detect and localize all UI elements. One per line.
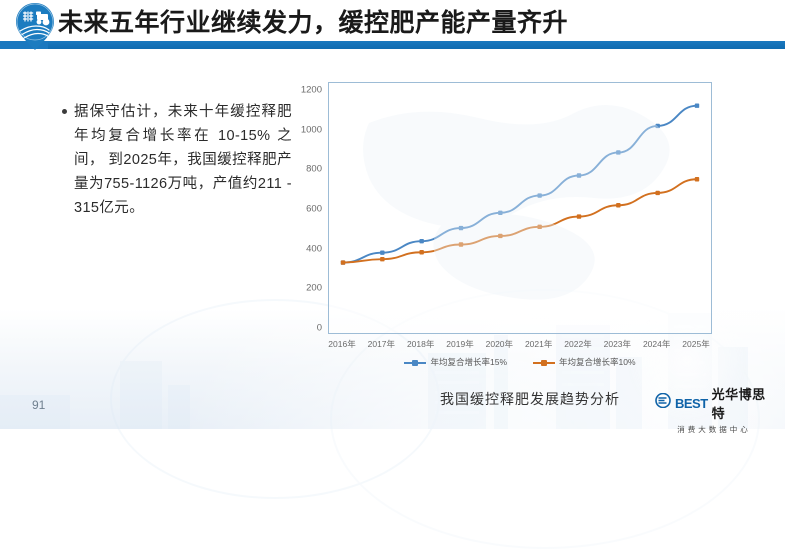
brand-subtitle: 消费大数据中心	[655, 424, 773, 435]
trend-chart: 020040060080010001200 2016年2017年2018年201…	[300, 70, 720, 380]
slide-header: 未来五年行业继续发力，缓控肥产能产量齐升	[0, 0, 785, 52]
x-axis-tick: 2019年	[446, 338, 473, 350]
list-item: 据保守估计，未来十年缓控释肥年均复合增长率在 10-15% 之间， 到2025年…	[62, 100, 292, 220]
plot-area	[328, 82, 712, 334]
chart-caption: 我国缓控释肥发展趋势分析	[390, 389, 670, 409]
x-axis-tick: 2016年	[328, 338, 355, 350]
brand-mark-icon	[655, 393, 671, 413]
y-axis-tick: 800	[306, 164, 322, 175]
brand-main-row: BEST 光华博思特	[655, 384, 773, 422]
y-axis-tick: 0	[317, 323, 322, 334]
map-watermark	[329, 83, 711, 333]
legend-swatch-icon	[533, 358, 555, 367]
x-axis-tick: 2023年	[604, 338, 631, 350]
bullet-dot-icon	[62, 109, 67, 114]
brand-logo: BEST 光华博思特 消费大数据中心	[655, 384, 773, 418]
bullet-block: 据保守估计，未来十年缓控释肥年均复合增长率在 10-15% 之间， 到2025年…	[62, 100, 292, 220]
brand-name: 光华博思特	[712, 384, 773, 422]
y-axis-tick: 200	[306, 283, 322, 294]
legend-swatch-icon	[404, 358, 426, 367]
y-axis-tick: 400	[306, 243, 322, 254]
y-axis-tick: 1200	[301, 85, 322, 96]
x-axis-tick: 2022年	[564, 338, 591, 350]
header-rule	[48, 41, 785, 49]
x-axis-tick: 2020年	[486, 338, 513, 350]
x-axis-tick: 2018年	[407, 338, 434, 350]
legend-item[interactable]: 年均复合增长率15%	[404, 356, 507, 368]
brand-badge: BEST	[675, 396, 708, 411]
page-number: 91	[32, 398, 45, 412]
bullet-text: 据保守估计，未来十年缓控释肥年均复合增长率在 10-15% 之间， 到2025年…	[74, 100, 292, 220]
legend-item[interactable]: 年均复合增长率10%	[533, 356, 636, 368]
slide-canvas: 未来五年行业继续发力，缓控肥产能产量齐升 据保守估计，未来十年缓控释肥年均复合增…	[0, 0, 785, 429]
chart-legend: 年均复合增长率15%年均复合增长率10%	[328, 356, 712, 368]
x-axis-tick: 2024年	[643, 338, 670, 350]
x-axis-tick: 2021年	[525, 338, 552, 350]
x-axis-labels: 2016年2017年2018年2019年2020年2021年2022年2023年…	[328, 336, 712, 356]
page-title: 未来五年行业继续发力，缓控肥产能产量齐升	[58, 3, 568, 39]
legend-label: 年均复合增长率10%	[559, 356, 636, 368]
y-axis-labels: 020040060080010001200	[300, 70, 326, 346]
x-axis-tick: 2017年	[368, 338, 395, 350]
y-axis-tick: 600	[306, 204, 322, 215]
y-axis-tick: 1000	[301, 124, 322, 135]
x-axis-tick: 2025年	[682, 338, 709, 350]
legend-marker	[541, 360, 547, 366]
legend-marker	[412, 360, 418, 366]
legend-label: 年均复合增长率15%	[430, 356, 507, 368]
agri-pin-logo-icon	[13, 1, 57, 53]
